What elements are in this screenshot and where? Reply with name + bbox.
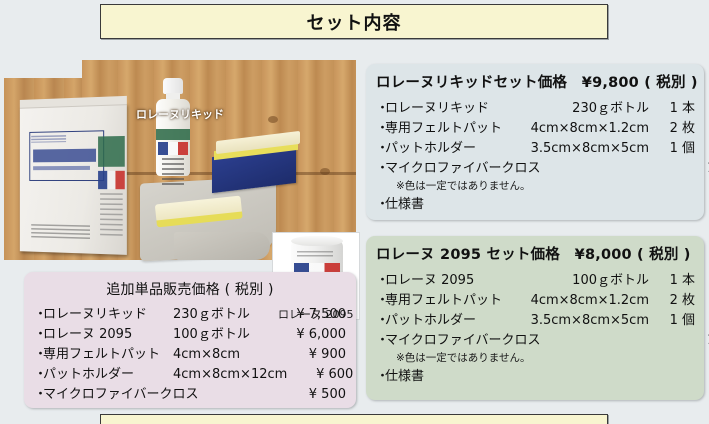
item-spec: 230ｇボトル [173,305,280,325]
item-price: ¥ 600 [287,365,353,385]
item-name: パットホルダー [43,365,173,385]
list-item: ・ マイクロファイバークロス 1 枚 [376,159,694,179]
bullet-icon: ・ [376,367,385,387]
item-price: ¥ 900 [280,345,346,365]
item-qty: 1 枚 [690,331,709,351]
list-item: ・ パットホルダー 3.5cm×8cm×5cm 1 個 [376,311,694,331]
bottle-flag-band [158,142,188,155]
item-name: マイクロファイバークロス [385,159,540,179]
item-name: ロレーヌリキッド [43,305,173,325]
panel-2095-set: ロレーヌ 2095 セット価格 ¥8,000 ( 税別 ) ・ ロレーヌ 209… [366,236,704,400]
next-section-banner [100,414,608,424]
bullet-icon: ・ [376,291,385,311]
photo-caption-bottle: ロレーヌリキッド [136,106,224,122]
bullet-icon: ・ [34,365,43,385]
bullet-icon: ・ [34,305,43,325]
item-name: 専用フェルトパット [43,345,173,365]
panel-2095-set-note: ※色は一定ではありません。 [376,351,694,367]
item-name: マイクロファイバークロス [43,385,198,405]
item-name: ロレーヌ 2095 [43,325,173,345]
item-name: 専用フェルトパット [385,291,503,311]
list-item: ・ ロレーヌ 2095 100ｇボトル 1 本 [376,271,694,291]
carton-bottom-text [31,224,90,241]
bottle-green-band [156,129,190,140]
felt-mat-fold [174,232,270,260]
bullet-icon: ・ [376,119,385,139]
list-item: ・ パットホルダー 3.5cm×8cm×5cm 1 個 [376,139,694,159]
carton-flag-band [98,171,125,189]
bullet-icon: ・ [376,331,385,351]
item-price: ¥ 6,000 [280,325,346,345]
panel-2095-set-title: ロレーヌ 2095 セット価格 ¥8,000 ( 税別 ) [376,243,694,264]
list-item: ・ 専用フェルトパット 4cm×8cm×1.2cm 2 枚 [376,291,694,311]
item-qty: 1 個 [653,139,695,159]
product-carton-box [20,103,127,255]
panel-single-prices: 追加単品販売価格 ( 税別 ) ・ ロレーヌリキッド 230ｇボトル ¥ 7,5… [24,272,356,408]
carton-green-band [98,136,125,167]
wood-knot-icon [320,168,330,175]
item-qty: 2 枚 [653,291,695,311]
list-item: ・ パットホルダー 4cm×8cm×12cm ¥ 600 [34,365,346,385]
item-qty: 1 本 [653,271,695,291]
list-item: ・ 仕様書 [376,367,694,387]
panel-liquid-set-note: ※色は一定ではありません。 [376,179,694,195]
item-spec: 100ｇボトル [503,271,653,291]
page-title: セット内容 [307,9,402,35]
item-spec: 3.5cm×8cm×5cm [503,311,653,331]
item-name: 仕様書 [385,367,424,387]
item-name: 仕様書 [385,195,424,215]
jar-lid [291,236,343,246]
bullet-icon: ・ [34,325,43,345]
bullet-icon: ・ [376,139,385,159]
list-item: ・ 専用フェルトパット 4cm×8cm×1.2cm 2 枚 [376,119,694,139]
item-spec: 3.5cm×8cm×5cm [503,139,653,159]
photo-caption-jar: ロレーヌ 2095 [278,306,354,322]
carton-label-smalltext [31,135,66,143]
item-name: ロレーヌリキッド [385,99,503,119]
bottle-label-text [162,158,184,186]
item-spec: 4cm×8cm×1.2cm [503,291,653,311]
bullet-icon: ・ [376,311,385,331]
bullet-icon: ・ [376,99,385,119]
bullet-icon: ・ [376,271,385,291]
list-item: ・ 専用フェルトパット 4cm×8cm ¥ 900 [34,345,346,365]
item-name: パットホルダー [385,139,503,159]
bullet-icon: ・ [34,385,43,405]
item-spec: 4cm×8cm [173,345,280,365]
carton-brand-wordmark [33,149,96,163]
list-item: ・ マイクロファイバークロス ¥ 500 [34,385,346,405]
wood-knot-icon [268,116,278,123]
item-name: 専用フェルトパット [385,119,503,139]
section-header-banner: セット内容 [100,4,608,39]
item-name: ロレーヌ 2095 [385,271,503,291]
item-price: ¥ 500 [280,385,346,405]
panel-liquid-set-title: ロレーヌリキッドセット価格 ¥9,800 ( 税別 ) [376,71,694,92]
panel-liquid-set: ロレーヌリキッドセット価格 ¥9,800 ( 税別 ) ・ ロレーヌリキッド 2… [366,64,704,220]
page-canvas: セット内容 [0,0,709,424]
bottle-cap [163,78,183,94]
bullet-icon: ・ [376,195,385,215]
product-photo: ロレーヌリキッド ロレーヌ 2095 [4,60,356,260]
list-item: ・ 仕様書 [376,195,694,215]
item-spec: 4cm×8cm×12cm [173,365,287,385]
item-name: マイクロファイバークロス [385,331,540,351]
list-item: ・ マイクロファイバークロス 1 枚 [376,331,694,351]
carton-subtitle-line [33,166,90,170]
item-qty: 1 本 [653,99,695,119]
item-qty: 1 個 [653,311,695,331]
item-name: パットホルダー [385,311,503,331]
item-qty: 1 枚 [690,159,709,179]
list-item: ・ ロレーヌ 2095 100ｇボトル ¥ 6,000 [34,325,346,345]
list-item: ・ ロレーヌリキッド 230ｇボトル 1 本 [376,99,694,119]
item-spec: 230ｇボトル [503,99,653,119]
pad-holder [212,138,300,188]
carton-side-text [100,193,123,238]
item-qty: 2 枚 [653,119,695,139]
item-spec: 100ｇボトル [173,325,280,345]
bullet-icon: ・ [376,159,385,179]
item-spec: 4cm×8cm×1.2cm [503,119,653,139]
panel-single-prices-title: 追加単品販売価格 ( 税別 ) [34,279,346,299]
liquid-bottle [156,78,190,176]
bullet-icon: ・ [34,345,43,365]
jar-label-text [297,251,333,259]
